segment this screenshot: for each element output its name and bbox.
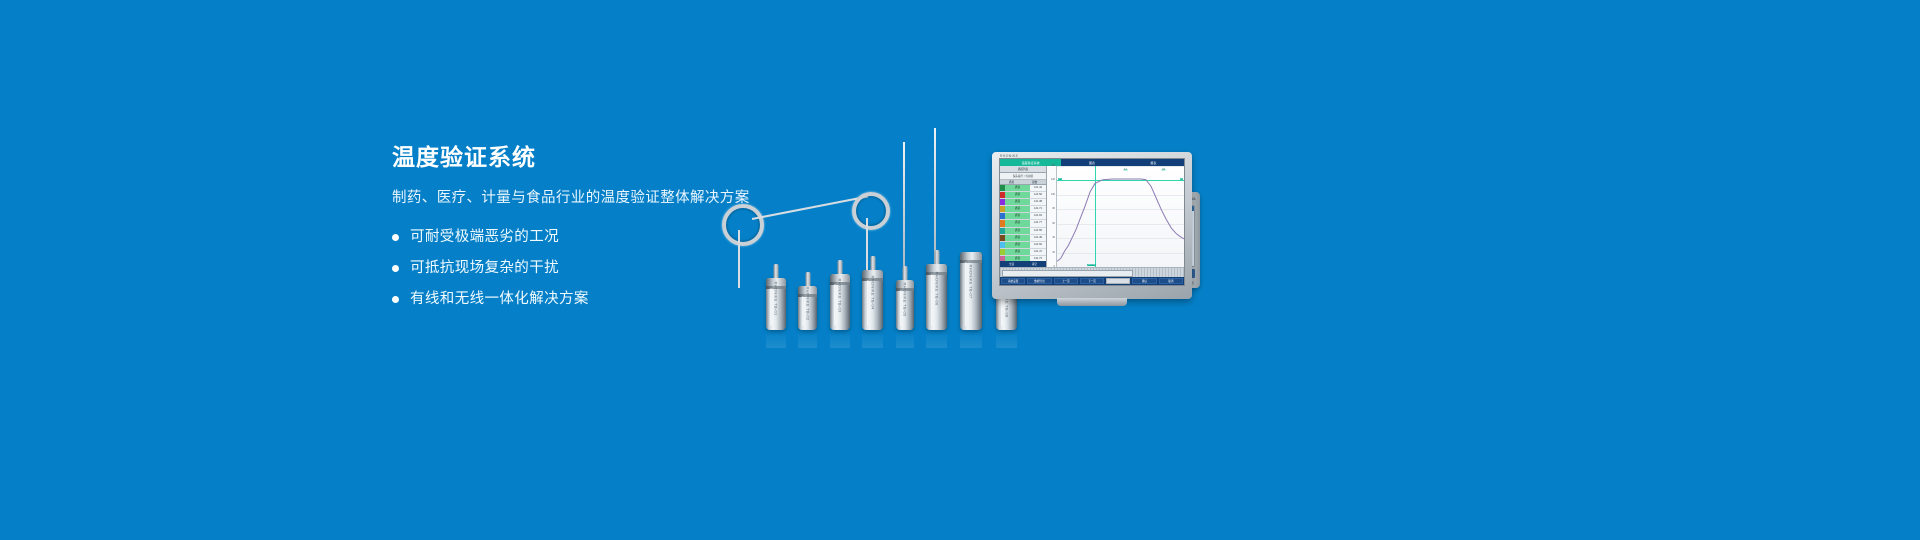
channel-name: 通道 [1005, 249, 1030, 255]
logger-reflection [862, 330, 883, 348]
logger-ring [960, 260, 982, 263]
data-logger: RHONIKE TB-06 [926, 264, 947, 330]
logger-label: RHONIKE TB-02 [805, 286, 810, 320]
chart-series-line [1057, 179, 1184, 261]
feature-label: 可抵抗现场复杂的干扰 [410, 259, 559, 277]
logger-gloss [965, 262, 967, 326]
confirm-button[interactable]: 确认 [1132, 278, 1156, 284]
monitor-screen[interactable]: 温度验证系统 图表 报表 通道列表 探头编号 / 当前值 通道 读数 通道121… [999, 158, 1185, 286]
y-axis-tick-label: 60 [1052, 222, 1055, 225]
channel-name: 通道 [1005, 185, 1030, 191]
chart-plot-area[interactable]: U L 121.53 A1 A2 [1056, 166, 1184, 267]
logger-label: RHONIKE TB-05 [903, 282, 908, 316]
y-axis-tick-label: 80 [1052, 207, 1055, 210]
channel-panel: 通道列表 探头编号 / 当前值 通道 读数 通道121.42通道121.50通道… [1000, 166, 1047, 267]
coil-probe-icon [722, 204, 764, 246]
y-axis-tick-label: 100 [1051, 193, 1055, 196]
logger-label: RHONIKE TB-06 [934, 272, 939, 306]
logger-reflection [996, 330, 1017, 348]
logger-gloss [931, 274, 933, 326]
logger-gloss [867, 280, 869, 326]
bullet-dot-icon [392, 234, 399, 241]
column-header-reading: 读数 [1023, 180, 1046, 184]
channel-name: 通道 [1005, 228, 1030, 234]
chart-y-axis: 020406080100120140 [1047, 166, 1056, 267]
coil-probe-icon [852, 192, 890, 230]
tab-report[interactable]: 报表 [1123, 159, 1184, 166]
channel-name: 通道 [1005, 220, 1030, 226]
logger-reflection [830, 330, 850, 348]
logger-reflection [896, 330, 914, 348]
table-row[interactable]: 通道121.42 [1000, 185, 1046, 192]
channel-temperature: 121.42 [1030, 185, 1046, 191]
feature-label: 可耐受极端恶劣的工况 [410, 228, 559, 246]
y-axis-tick-label: 40 [1052, 236, 1055, 239]
logger-gloss [802, 296, 804, 326]
spacer-field [1106, 278, 1130, 284]
table-row[interactable]: 通道121.50 [1000, 192, 1046, 199]
annotation-marker: A1 [1123, 169, 1128, 171]
channel-name: 通道 [1005, 213, 1030, 219]
logger-cap [960, 252, 982, 260]
logger-reflection [926, 330, 947, 348]
probe-wire [738, 230, 740, 288]
data-logger: RHONIKE TB-07 [960, 252, 982, 330]
feature-label: 有线和无线一体化解决方案 [410, 290, 589, 308]
channel-name: 通道 [1005, 242, 1030, 248]
y-axis-tick-label: 140 [1051, 164, 1055, 167]
channel-temperature: 121.55 [1030, 228, 1046, 234]
temperature-curve [1057, 166, 1184, 267]
limit-marker-right: L [1180, 178, 1183, 180]
y-axis-tick-label: 20 [1052, 251, 1055, 254]
channel-panel-header: 通道列表 [1000, 166, 1046, 173]
monitor-body: 通道列表 探头编号 / 当前值 通道 读数 通道121.42通道121.50通道… [1000, 166, 1184, 267]
monitor-display: RHONIKE 温度验证系统 图表 报表 通道列表 探头编号 / 当前值 通道 … [992, 152, 1192, 299]
logger-reflection [798, 330, 817, 348]
horizontal-scrollbar[interactable] [1000, 267, 1184, 277]
channel-name: 通道 [1005, 192, 1030, 198]
chart-panel: 020406080100120140 U L 121.53 A1 A2 [1047, 166, 1184, 267]
data-logger: RHONIKE TB-02 [798, 286, 817, 330]
logger-label: RHONIKE TB-07 [969, 264, 974, 298]
channel-temperature: 121.38 [1030, 199, 1046, 205]
bullet-dot-icon [392, 265, 399, 272]
limit-marker-left: U [1058, 178, 1062, 180]
logger-label: RHONIKE TB-01 [774, 281, 779, 315]
channel-panel-subheader: 探头编号 / 当前值 [1000, 173, 1046, 180]
table-row[interactable]: 通道121.49 [1000, 235, 1046, 242]
channel-temperature: 121.71 [1030, 206, 1046, 212]
data-logger: RHONIKE TB-01 [766, 278, 786, 330]
channel-temperature: 121.60 [1030, 242, 1046, 248]
table-row[interactable]: 通道121.55 [1000, 228, 1046, 235]
tab-chart[interactable]: 图表 [1061, 159, 1122, 166]
data-logger: RHONIKE TB-05 [896, 280, 914, 330]
monitor-toolbar: 系统设置 数据导出 上一页 下一页 确认 取消 [1000, 277, 1184, 285]
y-axis-tick-label: 120 [1051, 178, 1055, 181]
logger-label: RHONIKE TB-03 [838, 279, 843, 313]
logger-reflection [766, 330, 786, 348]
channel-name: 通道 [1005, 206, 1030, 212]
annotation-marker: A2 [1161, 169, 1166, 171]
bullet-dot-icon [392, 296, 399, 303]
table-row[interactable]: 通道121.77 [1000, 220, 1046, 227]
channel-temperature: 121.63 [1030, 213, 1046, 219]
table-row[interactable]: 通道121.71 [1000, 206, 1046, 213]
cancel-button[interactable]: 取消 [1159, 278, 1183, 284]
channel-temperature: 121.49 [1030, 235, 1046, 241]
monitor-stand [1057, 298, 1127, 306]
settings-button[interactable]: 系统设置 [1001, 278, 1025, 284]
export-button[interactable]: 数据导出 [1027, 278, 1051, 284]
next-page-button[interactable]: 下一页 [1080, 278, 1104, 284]
channel-name: 通道 [1005, 235, 1030, 241]
cursor-value-badge: 121.53 [1087, 264, 1096, 266]
logger-label: RHONIKE TB-04 [870, 276, 875, 310]
hero-banner: 温度验证系统 制药、医疗、计量与食品行业的温度验证整体解决方案 可耐受极端恶劣的… [0, 0, 1920, 540]
table-row[interactable]: 通道121.63 [1000, 213, 1046, 220]
column-header-channel: 通道 [1000, 180, 1023, 184]
data-logger: RHONIKE TB-04 [862, 270, 883, 330]
monitor-tabs: 温度验证系统 图表 报表 [1000, 159, 1184, 166]
product-photo-group: RHONIKE TB-01 RHONIKE TB-02 RHONIKE TB-0… [700, 100, 1260, 330]
data-logger: RHONIKE TB-03 [830, 274, 850, 330]
channel-temperature: 121.77 [1030, 220, 1046, 226]
table-row[interactable]: 通道121.47 [1000, 249, 1046, 256]
probe-wire [752, 196, 868, 220]
logger-reflection [960, 330, 982, 348]
channel-temperature: 121.47 [1030, 249, 1046, 255]
table-row[interactable]: 通道121.60 [1000, 242, 1046, 249]
channel-name: 通道 [1005, 199, 1030, 205]
channel-temperature: 121.50 [1030, 192, 1046, 198]
table-row[interactable]: 通道121.38 [1000, 199, 1046, 206]
prev-page-button[interactable]: 上一页 [1054, 278, 1078, 284]
logger-gloss [770, 288, 772, 326]
logger-gloss [834, 284, 836, 326]
scrollbar-thumb[interactable] [1002, 270, 1133, 277]
channel-rows[interactable]: 通道121.42通道121.50通道121.38通道121.71通道121.63… [1000, 185, 1046, 261]
